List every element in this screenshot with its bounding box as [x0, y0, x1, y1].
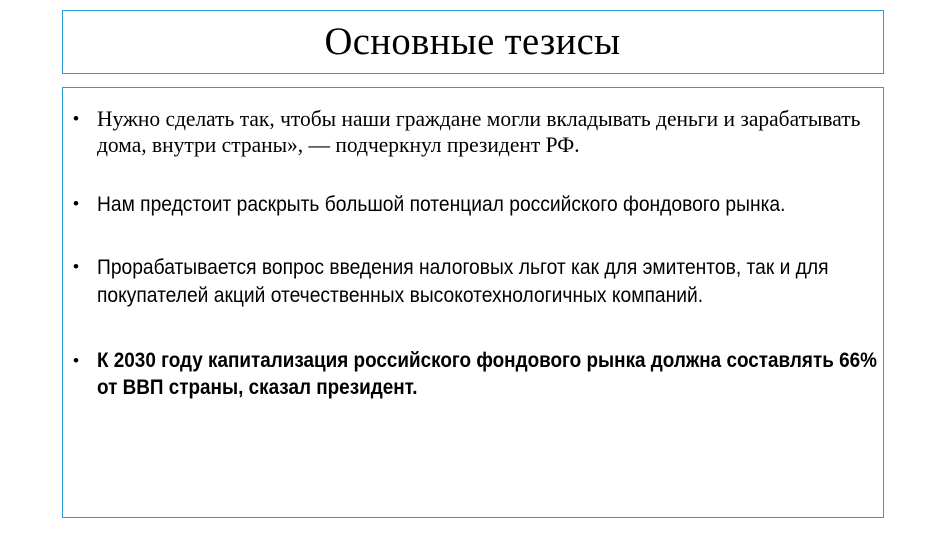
page-title: Основные тезисы	[325, 22, 621, 63]
list-item-text: Прорабатывается вопрос введения налоговы…	[97, 253, 877, 309]
list-item: • Нужно сделать так, чтобы наши граждане…	[71, 106, 877, 158]
list-item: • К 2030 году капитализация российского …	[71, 347, 877, 401]
bullet-point-icon: •	[73, 106, 79, 132]
bullet-point-icon: •	[73, 347, 79, 374]
slide-title-box: Основные тезисы	[62, 10, 884, 74]
list-item: • Прорабатывается вопрос введения налого…	[71, 253, 877, 309]
slide-content-box: • Нужно сделать так, чтобы наши граждане…	[62, 87, 884, 518]
bullet-point-icon: •	[73, 190, 79, 218]
list-item-text: Нам предстоит раскрыть большой потенциал…	[97, 190, 877, 218]
presentation-slide: Основные тезисы • Нужно сделать так, что…	[0, 0, 942, 534]
bullet-point-icon: •	[73, 253, 79, 281]
list-item-text: К 2030 году капитализация российского фо…	[97, 347, 877, 401]
list-item: • Нам предстоит раскрыть большой потенци…	[71, 190, 877, 218]
bullet-list: • Нужно сделать так, чтобы наши граждане…	[71, 106, 877, 401]
list-item-text: Нужно сделать так, чтобы наши граждане м…	[97, 106, 877, 158]
